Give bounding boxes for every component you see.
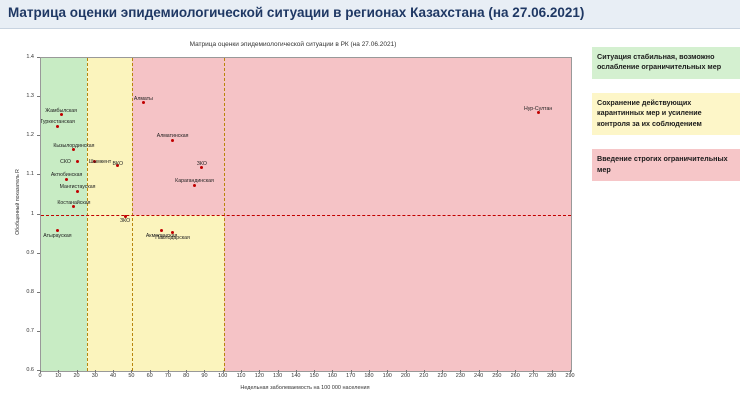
y-tick-mark <box>37 253 40 254</box>
data-point-label: Туркестанская <box>40 119 75 125</box>
page-title: Матрица оценки эпидемиологической ситуац… <box>8 5 584 20</box>
zone-yellow <box>87 58 133 215</box>
data-point <box>171 231 174 234</box>
x-tick-label: 210 <box>419 373 428 379</box>
x-tick-label: 90 <box>201 373 207 379</box>
x-tick-label: 180 <box>364 373 373 379</box>
data-point-label: Алматы <box>134 96 153 102</box>
y-tick-label: 1.3 <box>8 93 34 99</box>
y-tick-mark <box>37 174 40 175</box>
y-tick-label: 0.7 <box>8 328 34 334</box>
x-tick-label: 50 <box>128 373 134 379</box>
x-tick-label: 20 <box>73 373 79 379</box>
y-tick-label: 0.8 <box>8 289 34 295</box>
legend-item-label: Ситуация стабильная, возможно ослабление… <box>597 52 721 71</box>
chart-panel: Матрица оценки эпидемиологической ситуац… <box>0 29 586 416</box>
page-header: Матрица оценки эпидемиологической ситуац… <box>0 0 740 29</box>
x-tick-label: 40 <box>110 373 116 379</box>
x-tick-label: 60 <box>147 373 153 379</box>
y-tick-label: 0.6 <box>8 367 34 373</box>
x-tick-label: 170 <box>346 373 355 379</box>
data-point-label: Шымкент <box>89 159 112 165</box>
zone-green <box>41 58 87 215</box>
data-point-label: Мангистауская <box>60 184 96 190</box>
y-tick-mark <box>37 135 40 136</box>
threshold-hline-r1 <box>41 215 571 216</box>
data-point <box>160 229 163 232</box>
zone-red <box>132 58 571 215</box>
y-tick-mark <box>37 57 40 58</box>
legend-item-label: Введение строгих ограничительных мер <box>597 154 728 173</box>
data-point-label: ВКО <box>113 161 123 167</box>
x-axis-label: Недельная заболеваемость на 100 000 насе… <box>40 385 570 391</box>
legend: Ситуация стабильная, возможно ослабление… <box>592 47 740 195</box>
x-tick-label: 110 <box>237 373 246 379</box>
scatter-plot: ЖамбылскаяТуркестанскаяКызылординскаяСКО… <box>40 57 572 372</box>
x-tick-label: 290 <box>565 373 574 379</box>
y-tick-label: 1.1 <box>8 171 34 177</box>
data-point-label: Павлодарская <box>155 235 190 241</box>
content-area: Матрица оценки эпидемиологической ситуац… <box>0 29 740 416</box>
x-tick-label: 230 <box>456 373 465 379</box>
y-tick-mark <box>37 292 40 293</box>
legend-item-label: Сохранение действующих карантинных мер и… <box>597 98 702 128</box>
x-tick-label: 240 <box>474 373 483 379</box>
data-point-label: Актюбинская <box>51 172 82 178</box>
legend-item-strict: Введение строгих ограничительных мер <box>592 149 740 181</box>
x-tick-label: 100 <box>218 373 227 379</box>
x-tick-label: 80 <box>183 373 189 379</box>
data-point-label: Костанайская <box>57 200 90 206</box>
x-tick-label: 10 <box>55 373 61 379</box>
y-tick-label: 1.4 <box>8 54 34 60</box>
data-point-label: Кызылординская <box>53 143 94 149</box>
data-point-label: СКО <box>60 159 71 165</box>
x-tick-label: 0 <box>38 373 41 379</box>
y-tick-label: 0.9 <box>8 250 34 256</box>
x-tick-label: 260 <box>511 373 520 379</box>
data-point-label: Атырауская <box>43 233 71 239</box>
y-tick-mark <box>37 370 40 371</box>
x-tick-label: 140 <box>291 373 300 379</box>
data-point-label: Алматинская <box>157 133 189 139</box>
x-tick-label: 150 <box>310 373 319 379</box>
x-tick-label: 160 <box>328 373 337 379</box>
legend-item-stable: Ситуация стабильная, возможно ослабление… <box>592 47 740 79</box>
data-point-label: Жамбылская <box>45 108 77 114</box>
x-tick-label: 270 <box>529 373 538 379</box>
data-point-label: Карагандинская <box>175 178 214 184</box>
x-tick-label: 120 <box>255 373 264 379</box>
x-tick-label: 200 <box>401 373 410 379</box>
x-tick-label: 280 <box>547 373 556 379</box>
y-tick-label: 1 <box>8 211 34 217</box>
zone-red <box>224 215 571 372</box>
x-tick-label: 30 <box>92 373 98 379</box>
data-point <box>56 229 59 232</box>
data-point-label: ЗКО <box>120 218 130 224</box>
data-point-label: ЗКО <box>197 161 207 167</box>
chart-title: Матрица оценки эпидемиологической ситуац… <box>0 41 586 48</box>
x-tick-label: 130 <box>273 373 282 379</box>
legend-item-maintain: Сохранение действующих карантинных мер и… <box>592 93 740 135</box>
x-tick-label: 190 <box>383 373 392 379</box>
x-tick-label: 220 <box>437 373 446 379</box>
y-tick-mark <box>37 214 40 215</box>
y-tick-label: 1.2 <box>8 132 34 138</box>
x-tick-label: 70 <box>165 373 171 379</box>
y-tick-mark <box>37 96 40 97</box>
x-tick-label: 250 <box>492 373 501 379</box>
y-tick-mark <box>37 331 40 332</box>
data-point-label: Нур-Султан <box>524 106 552 112</box>
